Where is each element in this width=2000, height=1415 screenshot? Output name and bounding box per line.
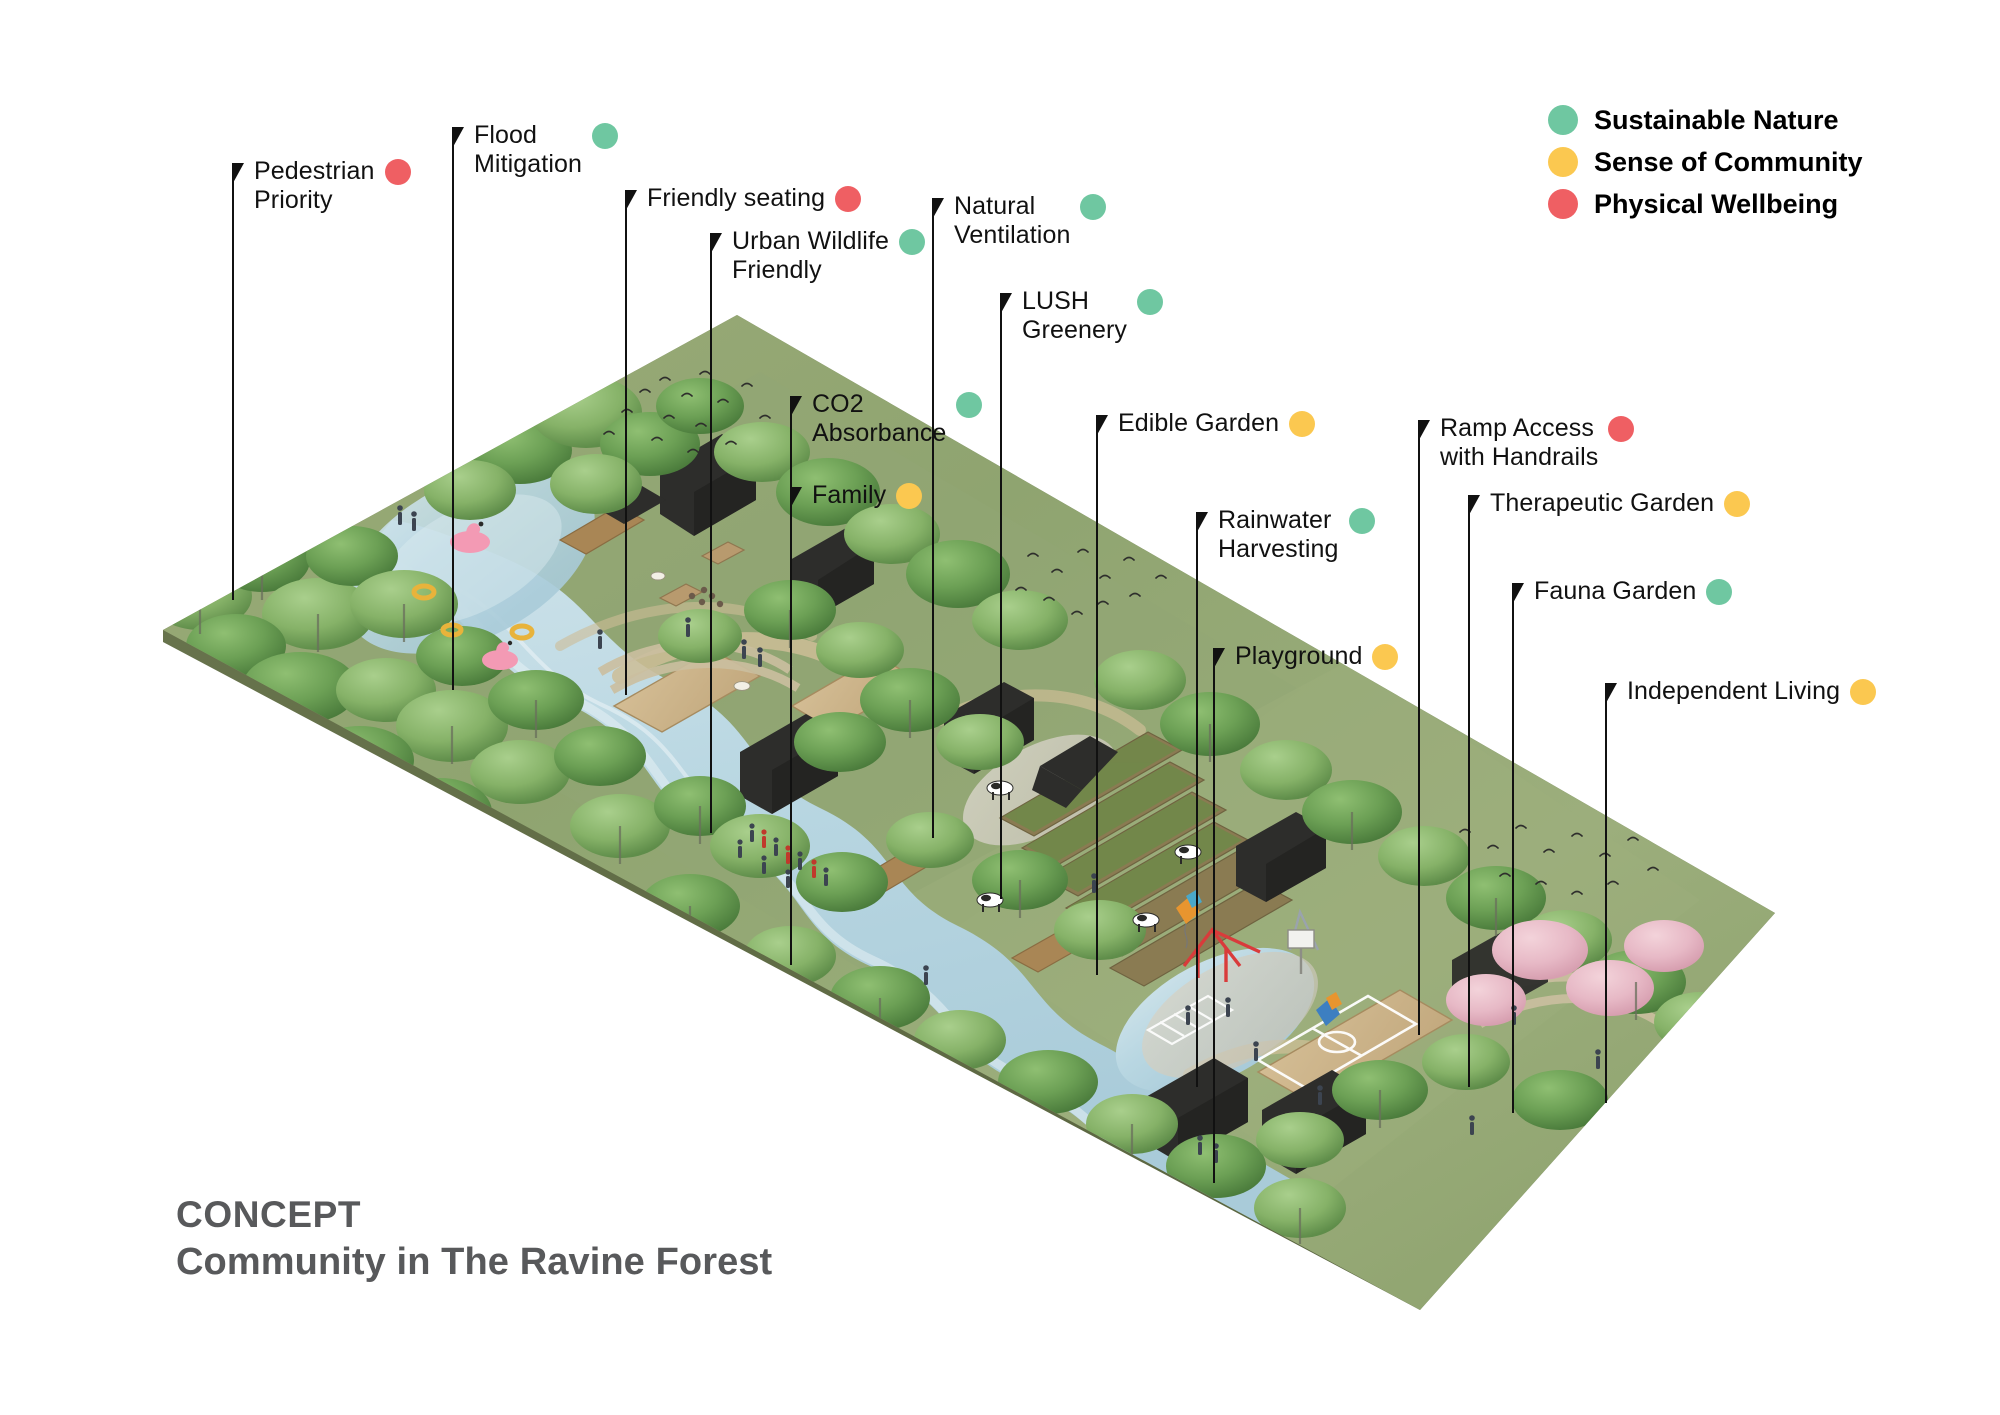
annotation-line2-rainwater-harvesting: Harvesting — [1218, 535, 1339, 564]
annotation-line2-natural-ventilation: Ventilation — [954, 221, 1070, 250]
amphitheatre-seating — [600, 644, 1662, 1024]
annotation-line1-family: Family — [812, 481, 886, 509]
annotation-line1-playground: Playground — [1235, 642, 1362, 670]
annotation-text-fauna-garden: Fauna Garden — [1534, 577, 1696, 606]
timber-cabins — [660, 542, 744, 606]
annotation-label-pedestrian-priority: PedestrianPriority — [254, 157, 411, 215]
annotation-label-co2-absorbance: CO2Absorbance — [812, 390, 982, 448]
annotation-text-lush-greenery: LUSHGreenery — [1022, 287, 1127, 345]
annotation-line2-pedestrian-priority: Priority — [254, 186, 375, 215]
pin-flag-icon-lush-greenery — [1001, 293, 1012, 313]
pin-flag-icon-natural-ventilation — [933, 198, 944, 218]
annotation-text-co2-absorbance: CO2Absorbance — [812, 390, 946, 448]
hopscotch-markings — [1148, 996, 1232, 1044]
category-dot-sense-of-community — [1850, 679, 1876, 705]
category-dot-sense-of-community — [1289, 411, 1315, 437]
kite-b — [1316, 992, 1342, 1026]
pedestrian-paths — [560, 607, 1382, 1078]
legend-item-sense-of-community: Sense of Community — [1548, 147, 1863, 177]
grazing-cattle — [977, 781, 1201, 932]
annotation-label-urban-wildlife-friendly: Urban WildlifeFriendly — [732, 227, 925, 285]
annotation-line2-co2-absorbance: Absorbance — [812, 419, 946, 448]
annotation-line1-flood-mitigation: Flood — [474, 121, 537, 149]
timber-bridges — [560, 506, 1452, 1102]
pin-flag-icon-co2-absorbance — [791, 396, 802, 416]
category-dot-sense-of-community — [896, 483, 922, 509]
category-dot-sense-of-community — [1372, 644, 1398, 670]
annotation-label-ramp-access-with-handrails: Ramp Accesswith Handrails — [1440, 414, 1634, 472]
category-dot-sustainable-nature — [1080, 194, 1106, 220]
concept-board: Sustainable Nature Sense of Community Ph… — [0, 0, 2000, 1415]
annotation-text-ramp-access-with-handrails: Ramp Accesswith Handrails — [1440, 414, 1598, 472]
legend-label-physical-wellbeing: Physical Wellbeing — [1594, 191, 1838, 218]
pin-flag-icon-playground — [1214, 648, 1225, 668]
annotation-line1-urban-wildlife-friendly: Urban Wildlife — [732, 227, 889, 255]
pin-flag-icon-friendly-seating — [626, 190, 637, 210]
swim-rings — [414, 586, 532, 638]
legend-label-sense-of-community: Sense of Community — [1594, 149, 1863, 176]
annotation-text-natural-ventilation: NaturalVentilation — [954, 192, 1070, 250]
annotation-line1-pedestrian-priority: Pedestrian — [254, 157, 375, 185]
pin-flag-icon-ramp-access-with-handrails — [1419, 420, 1430, 440]
annotation-label-lush-greenery: LUSHGreenery — [1022, 287, 1163, 345]
annotation-line1-co2-absorbance: CO2 — [812, 390, 864, 418]
annotation-label-rainwater-harvesting: RainwaterHarvesting — [1218, 506, 1375, 564]
leader-line-friendly-seating — [625, 190, 627, 695]
tree-trunks — [200, 560, 1636, 1244]
annotation-line2-flood-mitigation: Mitigation — [474, 150, 582, 179]
pin-flag-icon-urban-wildlife-friendly — [711, 233, 722, 253]
pin-flag-icon-edible-garden — [1097, 415, 1108, 435]
category-dot-physical-wellbeing — [385, 159, 411, 185]
annotation-text-independent-living: Independent Living — [1627, 677, 1840, 706]
annotation-text-flood-mitigation: FloodMitigation — [474, 121, 582, 179]
annotation-label-natural-ventilation: NaturalVentilation — [954, 192, 1106, 250]
leader-line-family — [790, 487, 792, 965]
annotation-text-friendly-seating: Friendly seating — [647, 184, 825, 213]
annotation-label-playground: Playground — [1235, 642, 1398, 671]
flamingo-floats — [450, 522, 518, 670]
annotation-text-pedestrian-priority: PedestrianPriority — [254, 157, 375, 215]
leader-line-rainwater-harvesting — [1196, 512, 1198, 1087]
pin-flag-icon-flood-mitigation — [453, 127, 464, 147]
category-dot-sustainable-nature — [956, 392, 982, 418]
leader-line-pedestrian-priority — [232, 163, 234, 600]
category-dot-sustainable-nature — [1137, 289, 1163, 315]
legend: Sustainable Nature Sense of Community Ph… — [1548, 105, 1863, 219]
legend-dot-sustainable-nature — [1548, 105, 1578, 135]
blossom-trees — [1446, 920, 1704, 1026]
annotation-line1-fauna-garden: Fauna Garden — [1534, 577, 1696, 605]
annotation-line1-edible-garden: Edible Garden — [1118, 409, 1279, 437]
annotation-label-fauna-garden: Fauna Garden — [1534, 577, 1732, 606]
annotation-text-urban-wildlife-friendly: Urban WildlifeFriendly — [732, 227, 889, 285]
gravel-clearings — [945, 712, 1338, 1105]
legend-label-sustainable-nature: Sustainable Nature — [1594, 107, 1839, 134]
legend-item-physical-wellbeing: Physical Wellbeing — [1548, 189, 1863, 219]
annotation-label-edible-garden: Edible Garden — [1118, 409, 1315, 438]
annotation-label-flood-mitigation: FloodMitigation — [474, 121, 618, 179]
annotation-label-independent-living: Independent Living — [1627, 677, 1876, 706]
leader-line-ramp-access-with-handrails — [1418, 420, 1420, 1035]
leader-line-urban-wildlife-friendly — [710, 233, 712, 833]
annotation-text-playground: Playground — [1235, 642, 1362, 671]
leader-line-independent-living — [1605, 683, 1607, 1103]
stream — [314, 428, 1337, 1234]
category-dot-physical-wellbeing — [835, 186, 861, 212]
category-dot-physical-wellbeing — [1608, 416, 1634, 442]
legend-dot-physical-wellbeing — [1548, 189, 1578, 219]
crowd-cluster — [737, 823, 828, 888]
annotation-line1-rainwater-harvesting: Rainwater — [1218, 506, 1331, 534]
annotation-line2-ramp-access-with-handrails: with Handrails — [1440, 443, 1598, 472]
pavilion-buildings — [600, 434, 1776, 1174]
annotation-line1-lush-greenery: LUSH — [1022, 287, 1089, 315]
leader-line-fauna-garden — [1512, 583, 1514, 1113]
visitors — [299, 501, 1601, 1199]
category-dot-sustainable-nature — [1349, 508, 1375, 534]
annotation-text-rainwater-harvesting: RainwaterHarvesting — [1218, 506, 1339, 564]
annotation-line1-natural-ventilation: Natural — [954, 192, 1035, 220]
leader-line-edible-garden — [1096, 415, 1098, 975]
pin-flag-icon-pedestrian-priority — [233, 163, 244, 183]
category-dot-sustainable-nature — [1706, 579, 1732, 605]
edible-garden-beds — [1000, 732, 1292, 986]
page-title: Community in The Ravine Forest — [176, 1238, 772, 1287]
category-dot-sustainable-nature — [899, 229, 925, 255]
annotation-line1-friendly-seating: Friendly seating — [647, 184, 825, 212]
leader-line-lush-greenery — [1000, 293, 1002, 899]
category-dot-sense-of-community — [1724, 491, 1750, 517]
pin-flag-icon-independent-living — [1606, 683, 1617, 703]
leader-line-flood-mitigation — [452, 127, 454, 690]
annotation-label-family: Family — [812, 481, 922, 510]
category-dot-sustainable-nature — [592, 123, 618, 149]
annotation-line1-therapeutic-garden: Therapeutic Garden — [1490, 489, 1714, 517]
annotation-line1-ramp-access-with-handrails: Ramp Access — [1440, 414, 1594, 442]
annotation-label-therapeutic-garden: Therapeutic Garden — [1490, 489, 1750, 518]
title-block: CONCEPT Community in The Ravine Forest — [176, 1192, 772, 1288]
annotation-text-edible-garden: Edible Garden — [1118, 409, 1279, 438]
pin-flag-icon-rainwater-harvesting — [1197, 512, 1208, 532]
leader-line-playground — [1213, 648, 1215, 1183]
pin-flag-icon-family — [791, 487, 802, 507]
sports-court — [1258, 996, 1416, 1088]
annotation-text-therapeutic-garden: Therapeutic Garden — [1490, 489, 1714, 518]
leader-line-therapeutic-garden — [1468, 495, 1470, 1087]
legend-item-sustainable-nature: Sustainable Nature — [1548, 105, 1863, 135]
picnic-cluster — [689, 587, 723, 607]
annotation-line2-urban-wildlife-friendly: Friendly — [732, 256, 889, 285]
leader-line-natural-ventilation — [932, 198, 934, 838]
title-kicker: CONCEPT — [176, 1192, 772, 1238]
pin-flag-icon-fauna-garden — [1513, 583, 1524, 603]
annotation-label-friendly-seating: Friendly seating — [647, 184, 861, 213]
playground-equipment — [1176, 890, 1342, 1026]
pin-flag-icon-therapeutic-garden — [1469, 495, 1480, 515]
dogs — [651, 572, 750, 690]
annotation-line2-lush-greenery: Greenery — [1022, 316, 1127, 345]
annotation-text-family: Family — [812, 481, 886, 510]
legend-dot-sense-of-community — [1548, 147, 1578, 177]
annotation-line1-independent-living: Independent Living — [1627, 677, 1840, 705]
